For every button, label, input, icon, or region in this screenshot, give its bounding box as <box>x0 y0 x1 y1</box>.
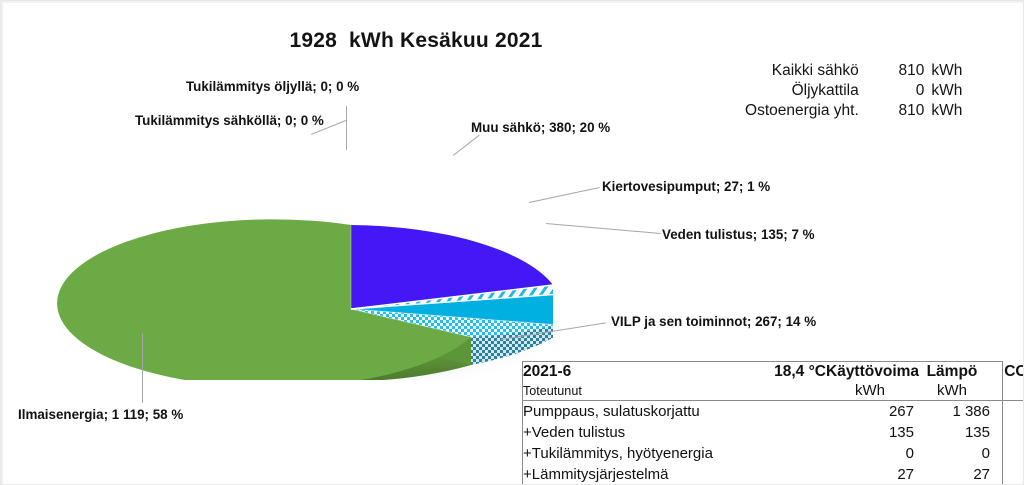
table-subheader-spacer <box>738 382 826 401</box>
chart-canvas: 1928 kWh Kesäkuu 2021 Kaikki sähkö 810 k… <box>0 0 1024 485</box>
table-cell-cop: 3,78 <box>990 422 1024 443</box>
table-cell-lampo: 27 <box>914 464 990 485</box>
table-cell-kayttovoima: 27 <box>826 464 914 485</box>
table-header-period: 2021-6 <box>523 362 738 382</box>
summary-unit: kWh <box>924 81 975 101</box>
table-header-temperature: 18,4 °C <box>738 362 826 382</box>
summary-value: 810 <box>869 61 925 81</box>
pie-label-tukilammitys-sahkolla: Tukilämmitys sähköllä; 0; 0 % <box>135 113 324 128</box>
table-subheader-spacer-cop <box>990 382 1024 401</box>
table-cell-name: +Veden tulistus <box>523 422 826 443</box>
summary-label: Ostoenergia yht. <box>695 101 869 121</box>
table-cell-lampo: 135 <box>914 422 990 443</box>
table-header-kayttovoima: Käyttövoima <box>826 362 914 382</box>
page-title: 1928 kWh Kesäkuu 2021 <box>1 29 831 53</box>
summary-block: Kaikki sähkö 810 kWh Öljykattila 0 kWh O… <box>695 61 975 121</box>
summary-value: 810 <box>869 101 925 121</box>
leader-line-tukilammitys <box>346 106 347 150</box>
table-subheader-unit-lampo: kWh <box>914 382 990 401</box>
table-cell-cop: 3,61 <box>990 464 1024 485</box>
table-cell-cop: 3,78 <box>990 443 1024 464</box>
summary-label: Kaikki sähkö <box>695 61 869 81</box>
summary-label: Öljykattila <box>695 81 869 101</box>
table-row: Pumppaus, sulatuskorjattu 267 1 386 5,18 <box>523 401 1024 423</box>
leader-line-ilmaisenergia <box>142 333 143 403</box>
table-cell-kayttovoima: 267 <box>826 401 914 423</box>
table-cell-name: Pumppaus, sulatuskorjattu <box>523 401 826 423</box>
table-cell-cop: 5,18 <box>990 401 1024 423</box>
table-cell-lampo: 1 386 <box>914 401 990 423</box>
table-cell-name: +Tukilämmitys, hyötyenergia <box>523 443 826 464</box>
table-cell-kayttovoima: 0 <box>826 443 914 464</box>
table-cell-lampo: 0 <box>914 443 990 464</box>
summary-unit: kWh <box>924 61 975 81</box>
pie-label-tukilammitys-oljylla: Tukilämmitys öljyllä; 0; 0 % <box>186 79 359 94</box>
data-table: 2021-6 18,4 °C Käyttövoima Lämpö COP Tot… <box>522 361 1003 485</box>
table-row: +Tukilämmitys, hyötyenergia 0 0 3,78 <box>523 443 1024 464</box>
summary-row: Öljykattila 0 kWh <box>695 81 975 101</box>
summary-row: Ostoenergia yht. 810 kWh <box>695 101 975 121</box>
pie-label-muu-sahko: Muu sähkö; 380; 20 % <box>471 120 610 135</box>
pie-label-vilp: VILP ja sen toiminnot; 267; 14 % <box>611 314 816 329</box>
pie-svg <box>23 125 553 380</box>
table-subheader-unit-kayttovoima: kWh <box>826 382 914 401</box>
summary-unit: kWh <box>924 101 975 121</box>
leader-line-veden-tulistus <box>546 223 661 234</box>
table-row: +Veden tulistus 135 135 3,78 <box>523 422 1024 443</box>
summary-row: Kaikki sähkö 810 kWh <box>695 61 975 81</box>
pie-chart <box>23 125 553 380</box>
pie-label-veden-tulistus: Veden tulistus; 135; 7 % <box>662 227 815 242</box>
table-cell-kayttovoima: 135 <box>826 422 914 443</box>
table-header-row: 2021-6 18,4 °C Käyttövoima Lämpö COP <box>523 362 1024 382</box>
table-cell-name: +Lämmitysjärjestelmä <box>523 464 826 485</box>
table-header-lampo: Lämpö <box>914 362 990 382</box>
table-subheader-name: Toteutunut <box>523 382 738 401</box>
table-row: +Lämmitysjärjestelmä 27 27 3,61 <box>523 464 1024 485</box>
summary-value: 0 <box>869 81 925 101</box>
table-header-cop: COP <box>990 362 1024 382</box>
pie-label-kiertovesipumput: Kiertovesipumput; 27; 1 % <box>602 179 770 194</box>
table-subheader-row: Toteutunut kWh kWh <box>523 382 1024 401</box>
pie-label-ilmaisenergia: Ilmaisenergia; 1 119; 58 % <box>18 407 183 422</box>
